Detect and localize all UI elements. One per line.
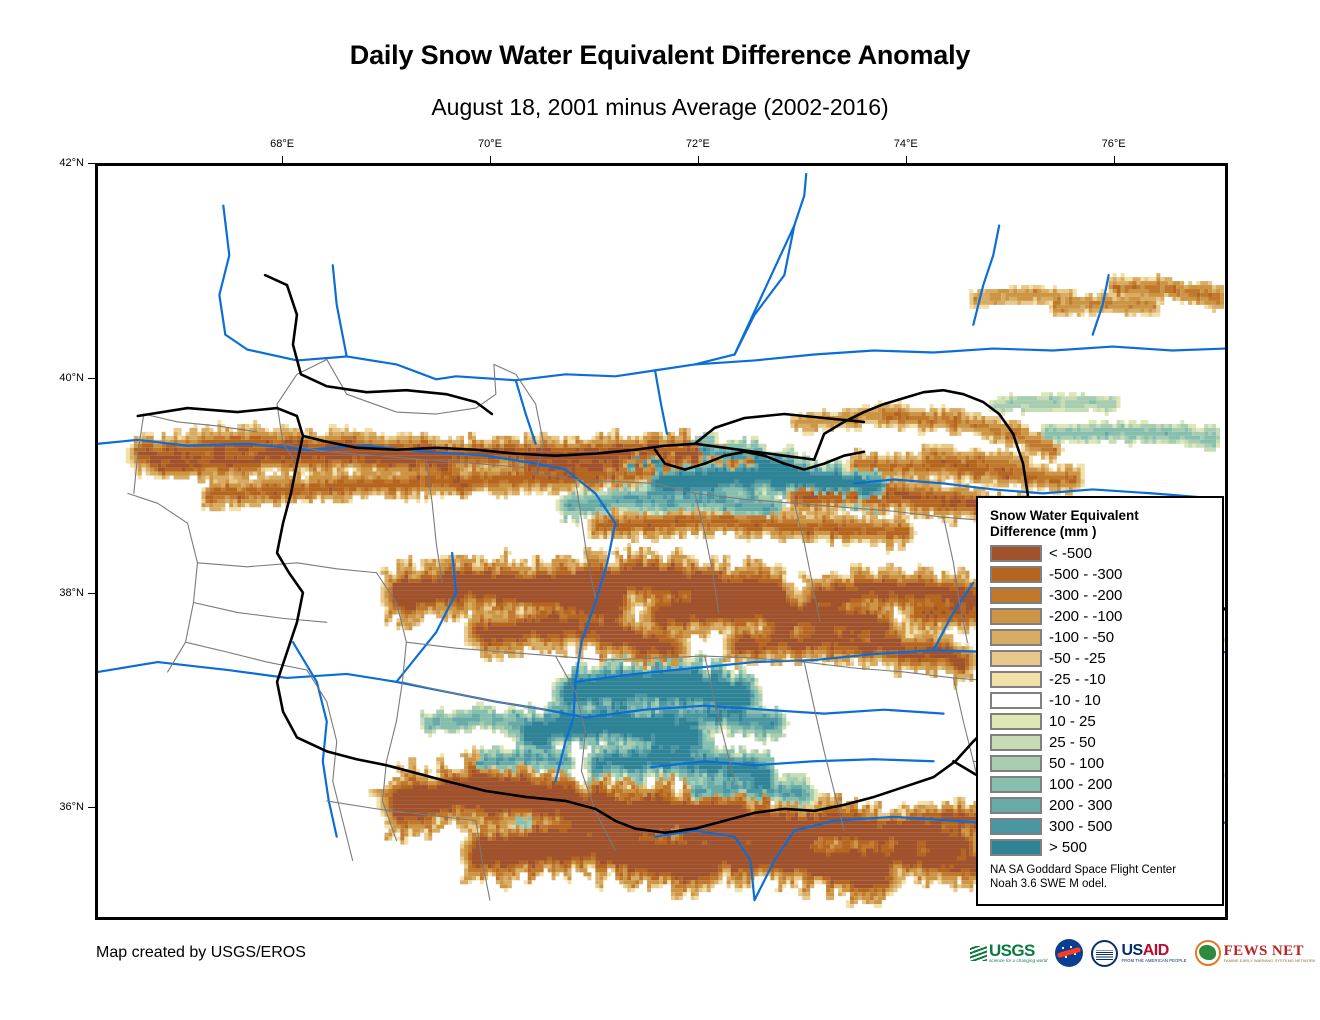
usaid-tagline: FROM THE AMERICAN PEOPLE — [1121, 959, 1186, 963]
nasa-logo-icon — [1055, 939, 1083, 967]
legend-row: > 500 — [990, 837, 1212, 858]
legend-row: 50 - 100 — [990, 753, 1212, 774]
legend-color-swatch — [990, 797, 1042, 814]
legend-title-line1: Snow Water Equivalent — [990, 508, 1212, 524]
legend-class-list: < -500-500 - -300-300 - -200-200 - -100-… — [990, 543, 1212, 858]
latitude-tick-label: 42°N — [59, 157, 84, 169]
legend-row: 10 - 25 — [990, 711, 1212, 732]
latitude-tick-label: 36°N — [59, 801, 84, 813]
legend-row: -10 - 10 — [990, 690, 1212, 711]
legend-class-label: 100 - 200 — [1049, 776, 1112, 793]
fewsnet-logo: FEWS NET FAMINE EARLY WARNING SYSTEMS NE… — [1195, 940, 1316, 966]
legend-color-swatch — [990, 629, 1042, 646]
legend-color-swatch — [990, 818, 1042, 835]
fewsnet-globe-icon — [1195, 940, 1221, 966]
legend-class-label: 200 - 300 — [1049, 797, 1112, 814]
longitude-tick — [490, 156, 491, 163]
legend-color-swatch — [990, 755, 1042, 772]
longitude-tick-label: 72°E — [686, 138, 710, 150]
legend-color-swatch — [990, 713, 1042, 730]
legend-color-swatch — [990, 566, 1042, 583]
legend-source-line2: Noah 3.6 SWE M odel. — [990, 878, 1212, 892]
usaid-logo: USAID FROM THE AMERICAN PEOPLE — [1091, 940, 1186, 967]
usaid-wordmark: USAID — [1121, 943, 1186, 959]
legend-row: 200 - 300 — [990, 795, 1212, 816]
longitude-tick — [282, 156, 283, 163]
longitude-tick-label: 70°E — [478, 138, 502, 150]
longitude-tick-label: 74°E — [894, 138, 918, 150]
fewsnet-tagline: FAMINE EARLY WARNING SYSTEMS NETWORK — [1224, 959, 1316, 963]
legend-row: -25 - -10 — [990, 669, 1212, 690]
legend-source-note: NA SA Goddard Space Flight Center Noah 3… — [990, 864, 1212, 891]
latitude-tick — [88, 163, 95, 164]
page-title: Daily Snow Water Equivalent Difference A… — [0, 40, 1320, 71]
legend-class-label: < -500 — [1049, 545, 1092, 562]
fewsnet-wordmark: FEWS NET — [1224, 944, 1316, 959]
longitude-tick — [698, 156, 699, 163]
usgs-wave-icon — [970, 946, 987, 961]
legend-title-line2: Difference (mm ) — [990, 524, 1212, 540]
legend-color-swatch — [990, 692, 1042, 709]
map-credit: Map created by USGS/EROS — [96, 944, 306, 962]
legend-source-line1: NA SA Goddard Space Flight Center — [990, 864, 1212, 878]
latitude-tick — [88, 807, 95, 808]
map-legend: Snow Water Equivalent Difference (mm ) <… — [976, 496, 1224, 906]
agency-logo-bar: USGS science for a changing world USAID … — [970, 936, 1316, 970]
legend-class-label: 50 - 100 — [1049, 755, 1104, 772]
longitude-tick-label: 68°E — [270, 138, 294, 150]
legend-row: 100 - 200 — [990, 774, 1212, 795]
legend-class-label: -10 - 10 — [1049, 692, 1101, 709]
legend-row: -300 - -200 — [990, 585, 1212, 606]
usgs-tagline: science for a changing world — [989, 959, 1047, 963]
legend-color-swatch — [990, 776, 1042, 793]
usaid-word-aid: AID — [1143, 942, 1169, 959]
legend-class-label: 25 - 50 — [1049, 734, 1096, 751]
latitude-tick — [88, 593, 95, 594]
longitude-tick — [906, 156, 907, 163]
legend-class-label: -300 - -200 — [1049, 587, 1122, 604]
legend-color-swatch — [990, 734, 1042, 751]
legend-color-swatch — [990, 545, 1042, 562]
legend-color-swatch — [990, 650, 1042, 667]
legend-class-label: -200 - -100 — [1049, 608, 1122, 625]
legend-color-swatch — [990, 671, 1042, 688]
legend-class-label: 10 - 25 — [1049, 713, 1096, 730]
legend-row: -50 - -25 — [990, 648, 1212, 669]
legend-row: 300 - 500 — [990, 816, 1212, 837]
usaid-seal-icon — [1091, 940, 1118, 967]
legend-row: -200 - -100 — [990, 606, 1212, 627]
latitude-tick-label: 38°N — [59, 587, 84, 599]
legend-row: 25 - 50 — [990, 732, 1212, 753]
usgs-logo: USGS science for a changing world — [970, 942, 1047, 963]
usaid-word-us: US — [1121, 942, 1142, 959]
latitude-tick — [88, 378, 95, 379]
longitude-tick — [1114, 156, 1115, 163]
legend-title: Snow Water Equivalent Difference (mm ) — [990, 508, 1212, 539]
page-subtitle: August 18, 2001 minus Average (2002-2016… — [0, 94, 1320, 121]
legend-class-label: -50 - -25 — [1049, 650, 1106, 667]
usgs-wordmark: USGS — [989, 942, 1047, 959]
legend-class-label: -25 - -10 — [1049, 671, 1106, 688]
legend-class-label: 300 - 500 — [1049, 818, 1112, 835]
legend-row: < -500 — [990, 543, 1212, 564]
legend-color-swatch — [990, 587, 1042, 604]
legend-row: -100 - -50 — [990, 627, 1212, 648]
legend-color-swatch — [990, 839, 1042, 856]
legend-class-label: -100 - -50 — [1049, 629, 1114, 646]
longitude-tick-label: 76°E — [1102, 138, 1126, 150]
latitude-tick-label: 40°N — [59, 372, 84, 384]
legend-row: -500 - -300 — [990, 564, 1212, 585]
legend-color-swatch — [990, 608, 1042, 625]
legend-class-label: > 500 — [1049, 839, 1087, 856]
legend-class-label: -500 - -300 — [1049, 566, 1122, 583]
